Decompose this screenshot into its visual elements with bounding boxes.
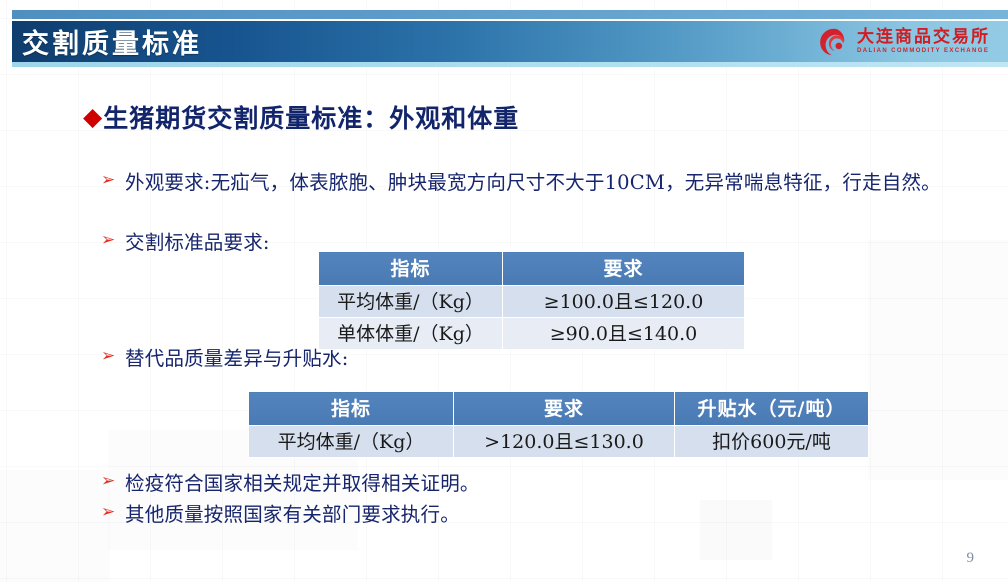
slide: 交割质量标准 大连商品交易所 DALIAN COMMODITY EXCHANGE… — [0, 0, 1008, 582]
dce-logo: 大连商品交易所 DALIAN COMMODITY EXCHANGE — [819, 27, 990, 57]
table-cell: 平均体重/（Kg） — [249, 426, 454, 458]
table-header-row: 指标 要求 — [319, 252, 745, 286]
table-cell: >120.0且≤130.0 — [454, 426, 675, 458]
arrow-bullet-icon: ➢ — [101, 469, 125, 494]
slide-title: 交割质量标准 — [12, 22, 202, 61]
substitute-premium-table: 指标 要求 升贴水（元/吨） 平均体重/（Kg） >120.0且≤130.0 扣… — [248, 391, 869, 458]
table-header-row: 指标 要求 升贴水（元/吨） — [249, 392, 869, 426]
arrow-bullet-icon: ➢ — [101, 228, 125, 253]
slide-title-band: 交割质量标准 大连商品交易所 DALIAN COMMODITY EXCHANGE — [12, 10, 1008, 67]
title-bottom-strip — [12, 62, 1008, 67]
table-cell: ≥90.0且≤140.0 — [503, 318, 745, 350]
bullet-text: 其他质量按照国家有关部门要求执行。 — [125, 500, 460, 529]
slide-content: ◆ 生猪期货交割质量标准：外观和体重 ➢ 外观要求:无疝气，体表脓胞、肿块最宽方… — [0, 0, 1008, 582]
table-row: 单体体重/（Kg） ≥90.0且≤140.0 — [319, 318, 745, 350]
table-cell: 平均体重/（Kg） — [319, 286, 503, 318]
dce-swirl-icon — [819, 27, 849, 57]
logo-english-name: DALIAN COMMODITY EXCHANGE — [857, 48, 990, 54]
table-row: 平均体重/（Kg） >120.0且≤130.0 扣价600元/吨 — [249, 426, 869, 458]
bullet-text: 替代品质量差异与升贴水: — [125, 344, 348, 373]
logo-chinese-name: 大连商品交易所 — [857, 29, 990, 46]
table-cell: 单体体重/（Kg） — [319, 318, 503, 350]
standard-product-table: 指标 要求 平均体重/（Kg） ≥100.0且≤120.0 单体体重/（Kg） … — [318, 251, 745, 350]
bullet-item: ➢ 其他质量按照国家有关部门要求执行。 — [101, 500, 460, 529]
bullet-item: ➢ 交割标准品要求: — [101, 228, 270, 257]
bullet-text: 外观要求:无疝气，体表脓胞、肿块最宽方向尺寸不大于10CM，无异常喘息特征，行走… — [125, 168, 977, 197]
arrow-bullet-icon: ➢ — [101, 168, 125, 193]
table-cell: 扣价600元/吨 — [675, 426, 869, 458]
bullet-item: ➢ 替代品质量差异与升贴水: — [101, 344, 348, 373]
table-header-cell: 指标 — [249, 392, 454, 426]
table-header-cell: 指标 — [319, 252, 503, 286]
bullet-text: 检疫符合国家相关规定并取得相关证明。 — [125, 469, 480, 498]
bullet-item: ➢ 外观要求:无疝气，体表脓胞、肿块最宽方向尺寸不大于10CM，无异常喘息特征，… — [101, 168, 981, 197]
bullet-item: ➢ 检疫符合国家相关规定并取得相关证明。 — [101, 469, 480, 498]
page-number: 9 — [967, 550, 975, 567]
bullet-text: 交割标准品要求: — [125, 228, 270, 257]
title-bar: 交割质量标准 大连商品交易所 DALIAN COMMODITY EXCHANGE — [12, 21, 1008, 62]
table-header-cell: 要求 — [503, 252, 745, 286]
table-header-cell: 要求 — [454, 392, 675, 426]
section-heading: ◆ 生猪期货交割质量标准：外观和体重 — [83, 99, 519, 135]
table-header-cell: 升贴水（元/吨） — [675, 392, 869, 426]
table-row: 平均体重/（Kg） ≥100.0且≤120.0 — [319, 286, 745, 318]
diamond-icon: ◆ — [83, 105, 102, 130]
arrow-bullet-icon: ➢ — [101, 500, 125, 525]
logo-text-block: 大连商品交易所 DALIAN COMMODITY EXCHANGE — [857, 29, 990, 54]
section-heading-text: 生猪期货交割质量标准：外观和体重 — [103, 99, 519, 135]
title-top-strip — [12, 10, 1008, 19]
arrow-bullet-icon: ➢ — [101, 344, 125, 369]
table-cell: ≥100.0且≤120.0 — [503, 286, 745, 318]
